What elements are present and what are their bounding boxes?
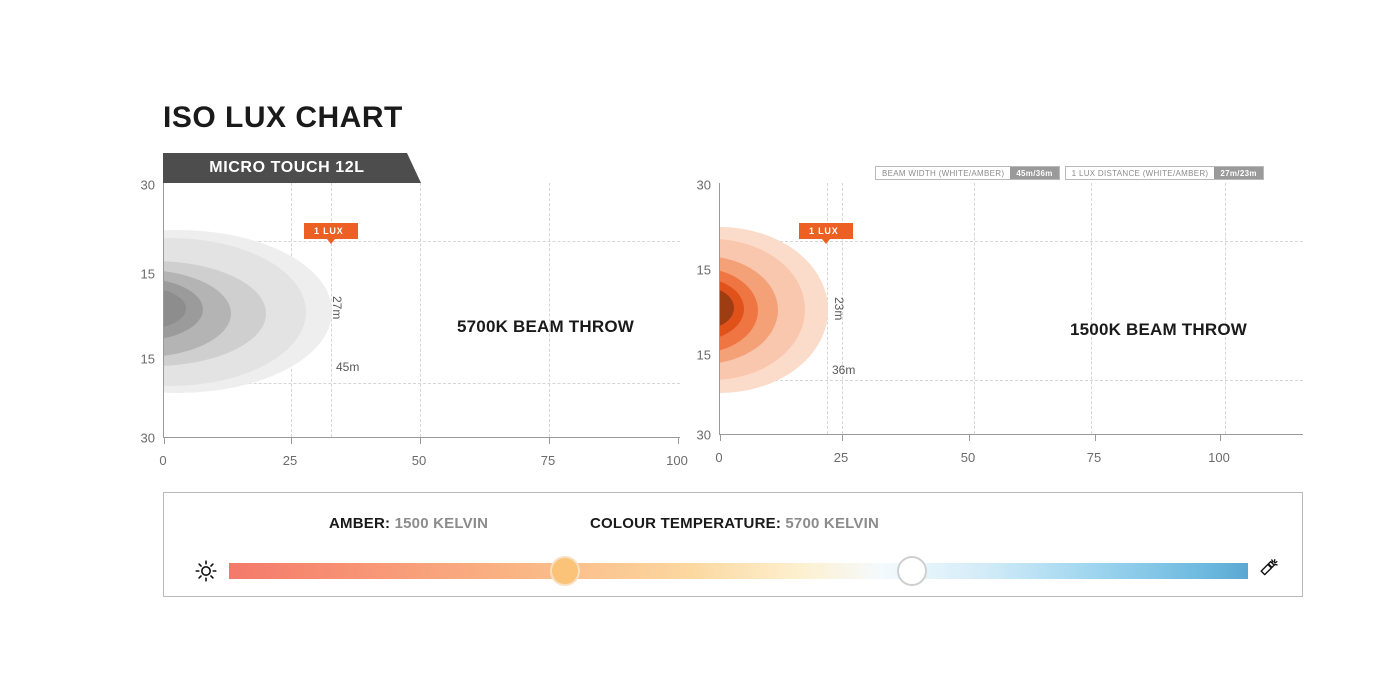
gridline-vertical xyxy=(549,183,550,437)
legend-value: 45m/36m xyxy=(1010,167,1058,179)
x-tick-label: 25 xyxy=(834,450,848,465)
y-tick-label: 30 xyxy=(125,431,155,446)
chart-banner-micro-touch-12l: MICRO TOUCH 12L xyxy=(163,153,421,183)
amber-label: AMBER: 1500 KELVIN xyxy=(329,515,488,532)
flashlight-icon xyxy=(1256,557,1280,581)
page-title: ISO LUX CHART xyxy=(163,101,403,135)
x-tick-label: 75 xyxy=(541,453,555,468)
gridline-vertical xyxy=(1091,183,1092,434)
x-tick-label: 0 xyxy=(715,450,722,465)
x-tick-label: 75 xyxy=(1087,450,1101,465)
gridline-horizontal xyxy=(720,241,1303,242)
x-tick-label: 25 xyxy=(283,453,297,468)
x-tick-label: 0 xyxy=(159,453,166,468)
x-tick-label: 100 xyxy=(1208,450,1230,465)
y-tick-label: 15 xyxy=(125,267,155,282)
x-tick-mark xyxy=(291,438,292,444)
colour-temperature-value: 5700 KELVIN xyxy=(785,515,879,532)
sun-icon xyxy=(194,559,218,583)
colour-temperature-panel: AMBER: 1500 KELVIN COLOUR TEMPERATURE: 5… xyxy=(163,492,1303,597)
x-tick-mark xyxy=(1095,435,1096,441)
slider-thumb-white[interactable] xyxy=(897,556,927,586)
gridline-vertical xyxy=(974,183,975,434)
gridline-vertical xyxy=(420,183,421,437)
colour-temperature-slider[interactable] xyxy=(164,555,1302,585)
x-tick-label: 50 xyxy=(961,450,975,465)
x-tick-mark xyxy=(420,438,421,444)
lux-badge-left: 1 LUX xyxy=(304,223,358,239)
x-tick-label: 50 xyxy=(412,453,426,468)
legend-item-beam-width: BEAM WIDTH (WHITE/AMBER) 45m/36m xyxy=(875,166,1060,180)
beam-throw-caption-right: 1500K BEAM THROW xyxy=(1070,320,1247,340)
legend: BEAM WIDTH (WHITE/AMBER) 45m/36m 1 LUX D… xyxy=(875,166,1264,180)
colour-temperature-key: COLOUR TEMPERATURE: xyxy=(590,515,781,532)
legend-label: 1 LUX DISTANCE (WHITE/AMBER) xyxy=(1066,167,1215,179)
distance-label-vertical-right: 23m xyxy=(832,297,846,320)
x-tick-mark xyxy=(720,435,721,441)
iso-lux-chart-page: ISO LUX CHART MICRO TOUCH 12L xyxy=(0,0,1400,700)
distance-label-vertical-left: 27m xyxy=(330,296,344,319)
x-tick-mark xyxy=(549,438,550,444)
x-tick-label: 100 xyxy=(666,453,688,468)
gridline-vertical xyxy=(1225,183,1226,434)
y-tick-label: 15 xyxy=(681,348,711,363)
y-tick-label: 15 xyxy=(681,263,711,278)
x-tick-mark xyxy=(1220,435,1221,441)
gridline-horizontal xyxy=(720,380,1303,381)
slider-thumb-amber[interactable] xyxy=(550,556,580,586)
plot-area-left: 1 LUX 5700K BEAM THROW 27m 45m xyxy=(163,183,680,438)
plot-area-right: 1 LUX 1500K BEAM THROW 23m 36m xyxy=(719,183,1303,435)
y-tick-label: 30 xyxy=(125,178,155,193)
amber-label-value: 1500 KELVIN xyxy=(395,515,489,532)
distance-label-horizontal-right: 36m xyxy=(832,363,855,377)
y-tick-label: 15 xyxy=(125,352,155,367)
lux-badge-right: 1 LUX xyxy=(799,223,853,239)
x-tick-mark xyxy=(969,435,970,441)
beam-throw-caption-left: 5700K BEAM THROW xyxy=(457,317,634,337)
slider-track[interactable] xyxy=(229,563,1248,579)
colour-temperature-label: COLOUR TEMPERATURE: 5700 KELVIN xyxy=(590,515,879,532)
legend-label: BEAM WIDTH (WHITE/AMBER) xyxy=(876,167,1010,179)
chart-panel-right: 1 LUX 1500K BEAM THROW 23m 36m 30 15 15 … xyxy=(719,150,1303,467)
distance-label-horizontal-left: 45m xyxy=(336,360,359,374)
x-tick-mark xyxy=(678,438,679,444)
x-tick-mark xyxy=(164,438,165,444)
plot-inner-left xyxy=(164,183,680,437)
legend-item-one-lux-distance: 1 LUX DISTANCE (WHITE/AMBER) 27m/23m xyxy=(1065,166,1264,180)
legend-value: 27m/23m xyxy=(1214,167,1262,179)
amber-label-key: AMBER: xyxy=(329,515,390,532)
plot-inner-right xyxy=(720,183,1303,434)
y-tick-label: 30 xyxy=(681,428,711,443)
x-tick-mark xyxy=(842,435,843,441)
chart-panel-left: MICRO TOUCH 12L 1 LUX 57 xyxy=(163,153,680,470)
y-tick-label: 30 xyxy=(681,178,711,193)
